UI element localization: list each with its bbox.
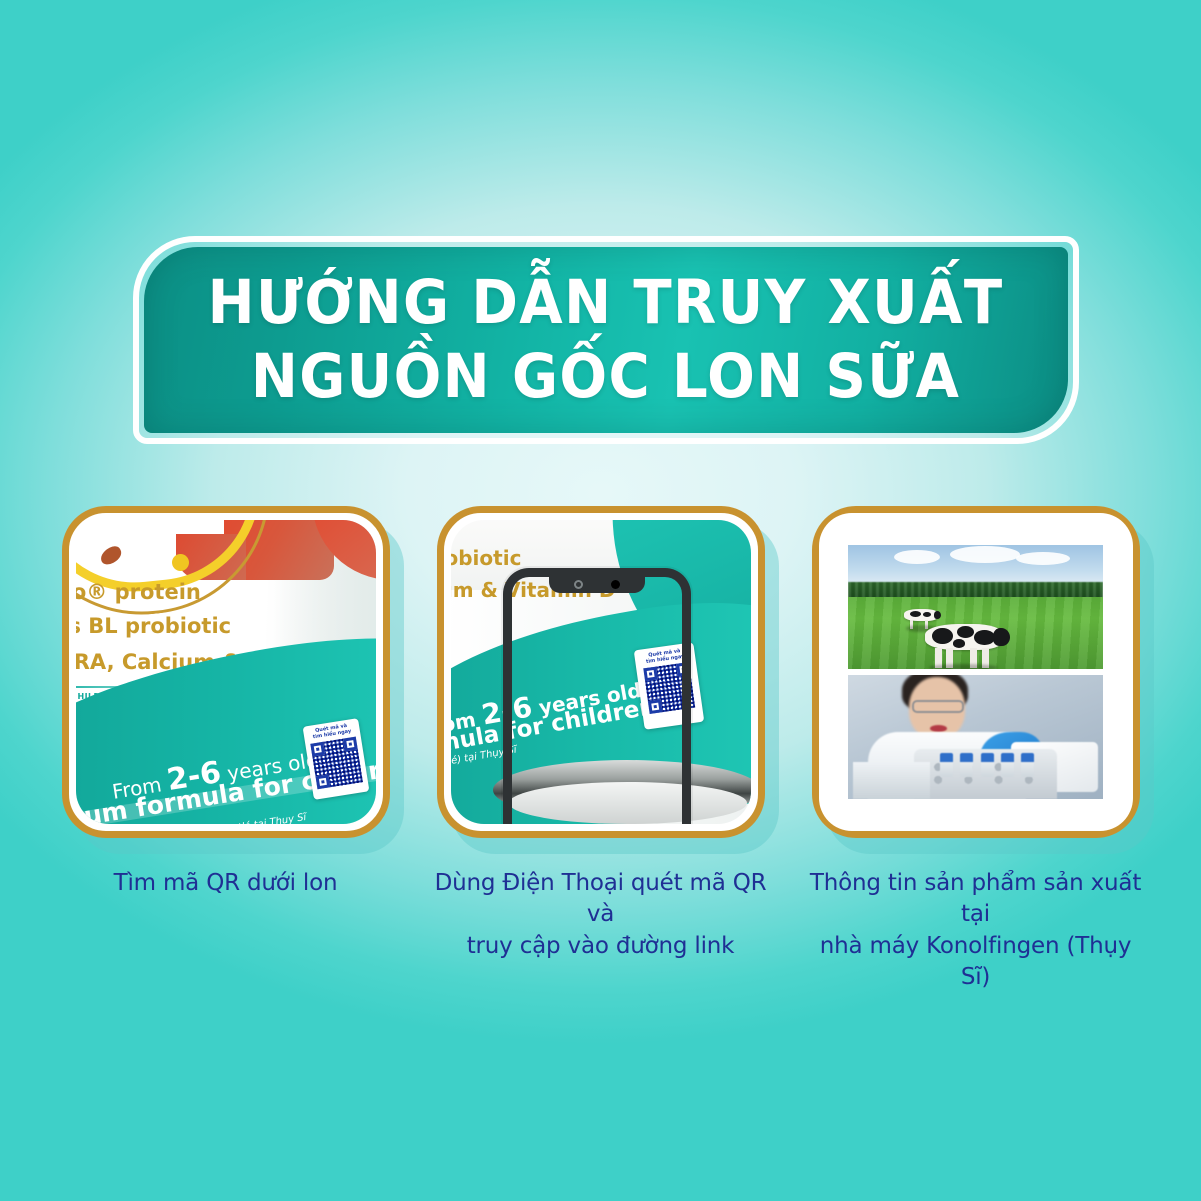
- sample-vial: [960, 753, 973, 777]
- camera-lens-icon: [611, 580, 620, 589]
- title-banner: HƯỚNG DẪN TRUY XUẤT NGUỒN GỐC LON SỮA: [133, 236, 1079, 444]
- can-label-line-2: us BL probiotic: [76, 614, 232, 638]
- treeline: [848, 582, 1103, 598]
- sample-vial: [981, 753, 994, 777]
- cow-spot: [957, 626, 974, 638]
- cow-spot: [910, 611, 922, 617]
- qr-eye-bottom-left: [315, 774, 330, 789]
- step-2-card: obiotic um & Vitamin D om 2-6 years old …: [437, 506, 765, 838]
- step-3: Thông tin sản phẩm sản xuất tại nhà máy …: [808, 506, 1143, 993]
- banner-title-line-1: HƯỚNG DẪN TRUY XUẤT: [208, 272, 1004, 334]
- technician-lips: [930, 725, 947, 732]
- qr-eye-top-right: [342, 736, 357, 751]
- step-2: obiotic um & Vitamin D om 2-6 years old …: [433, 506, 768, 962]
- qr-code-icon: [310, 736, 363, 789]
- test-tubes-group: [853, 762, 930, 799]
- step-1-card: ro® protein us BL probiotic ARA, Calcium…: [62, 506, 390, 838]
- step-2-caption: Dùng Điện Thoại quét mã QR và truy cập v…: [433, 868, 768, 962]
- qr-code-sticker: Quét mã và tìm hiểu ngay: [302, 718, 369, 800]
- cow-near: [925, 624, 1003, 668]
- phone-scanning-qr-photo: obiotic um & Vitamin D om 2-6 years old …: [451, 520, 751, 824]
- camera-ring-icon: [574, 580, 583, 589]
- cow-body: [925, 624, 1003, 650]
- sample-vial: [1021, 753, 1034, 777]
- can-line-1-text: ro® protein: [76, 580, 201, 604]
- banner-title-line-2: NGUỒN GỐC LON SỮA: [251, 346, 960, 408]
- step-1-caption-text: Tìm mã QR dưới lon: [114, 870, 338, 896]
- step-3-caption: Thông tin sản phẩm sản xuất tại nhà máy …: [808, 868, 1143, 993]
- steps-row: ro® protein us BL probiotic ARA, Calcium…: [0, 506, 1201, 993]
- step-3-card: [812, 506, 1140, 838]
- sample-vial: [940, 753, 953, 777]
- lab-technician-photo: [848, 675, 1103, 799]
- cow-spot: [953, 639, 965, 648]
- step-1-caption: Tìm mã QR dưới lon: [114, 868, 338, 899]
- step-1: ro® protein us BL probiotic ARA, Calcium…: [58, 506, 393, 899]
- step-2-caption-line-1: Dùng Điện Thoại quét mã QR và: [433, 868, 768, 931]
- safety-glasses-icon: [912, 700, 964, 713]
- cow-spot: [932, 628, 952, 644]
- sample-vial: [1001, 753, 1014, 777]
- c2-can-line-1: obiotic: [451, 546, 522, 570]
- step-2-caption-line-2: truy cập vào đường link: [433, 931, 768, 962]
- step-3-photos: [819, 513, 1133, 831]
- cow-body: [904, 609, 938, 621]
- dairy-cows-pasture-photo: [848, 545, 1103, 669]
- step-3-caption-line-1: Thông tin sản phẩm sản xuất tại: [808, 868, 1143, 931]
- phone-notch: [549, 576, 645, 593]
- cow-spot: [974, 630, 994, 645]
- qr-eye-top-left: [310, 741, 325, 756]
- cow-spot: [923, 612, 931, 617]
- cloud-1: [894, 550, 940, 564]
- step-3-caption-line-2: nhà máy Konolfingen (Thụy Sĩ): [808, 931, 1143, 994]
- can-label-line-1: ro® protein: [76, 580, 201, 604]
- cow-shadow: [929, 664, 998, 669]
- milk-can-label-photo: ro® protein us BL probiotic ARA, Calcium…: [76, 520, 376, 824]
- can-yellow-dot: [172, 554, 189, 571]
- smartphone-frame: [503, 568, 691, 824]
- banner-fill: HƯỚNG DẪN TRUY XUẤT NGUỒN GỐC LON SỮA: [144, 247, 1068, 433]
